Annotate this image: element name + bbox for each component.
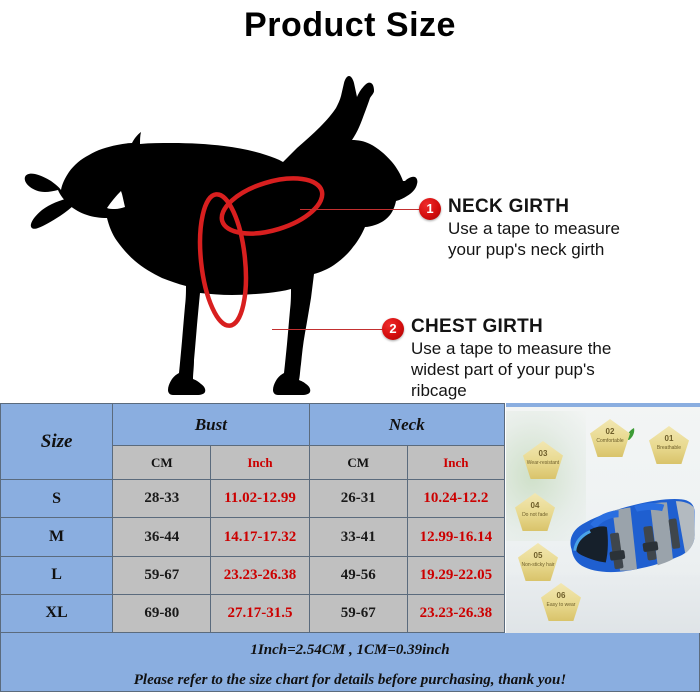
row-l-neck-inch: 19.29-22.05: [407, 556, 504, 594]
size-table: Size Bust Neck CM Inch CM Inch S 28-33 1…: [0, 403, 505, 633]
table-row: L 59-67 23.23-26.38 49-56 19.29-22.05: [1, 556, 505, 594]
header-group-neck: Neck: [309, 404, 504, 446]
table-row: S 28-33 11.02-12.99 26-31 10.24-12.2: [1, 480, 505, 518]
photo-top-band: [506, 403, 700, 407]
feature-badge-5-number: 05: [518, 551, 558, 560]
measurement-diagram: 1 2 NECK GIRTH Use a tape to measure you…: [0, 48, 700, 398]
product-photo: 01 Breathable 02 Comfortable 03 Wear-res…: [505, 403, 700, 633]
row-s-neck-inch: 10.24-12.2: [407, 480, 504, 518]
row-s-bust-cm: 28-33: [113, 480, 211, 518]
row-xl-bust-inch: 27.17-31.5: [211, 594, 309, 632]
feature-badge-breathable: 01 Breathable: [649, 426, 689, 464]
row-xl-neck-inch: 23.23-26.38: [407, 594, 504, 632]
feature-badge-comfortable: 02 Comfortable: [590, 419, 630, 457]
dog-silhouette-icon: [18, 48, 418, 398]
row-m-neck-cm: 33-41: [309, 518, 407, 556]
table-header-row-groups: Size Bust Neck: [1, 404, 505, 446]
table-row: XL 69-80 27.17-31.5 59-67 23.23-26.38: [1, 594, 505, 632]
footer-notes: 1Inch=2.54CM , 1CM=0.39inch Please refer…: [0, 633, 700, 692]
photo-surface: [506, 575, 700, 633]
row-size-l: L: [1, 556, 113, 594]
header-unit-neck-cm: CM: [309, 446, 407, 480]
row-size-s: S: [1, 480, 113, 518]
callout-chest-desc-line-1: Use a tape to measure the: [411, 338, 696, 359]
row-l-neck-cm: 49-56: [309, 556, 407, 594]
page-title: Product Size: [0, 6, 700, 45]
row-size-m: M: [1, 518, 113, 556]
row-m-bust-inch: 14.17-17.32: [211, 518, 309, 556]
feature-badge-1-label: Breathable: [649, 445, 689, 451]
header-unit-bust-cm: CM: [113, 446, 211, 480]
row-xl-bust-cm: 69-80: [113, 594, 211, 632]
row-s-bust-inch: 11.02-12.99: [211, 480, 309, 518]
feature-badge-1-number: 01: [649, 434, 689, 443]
callout-neck-desc-line-2: your pup's neck girth: [448, 239, 696, 260]
leader-line-chest: [272, 329, 385, 330]
row-xl-neck-cm: 59-67: [309, 594, 407, 632]
callout-chest-desc-line-3: ribcage: [411, 380, 696, 401]
feature-badge-4-label: Do not fade: [515, 512, 555, 518]
callout-neck-girth: NECK GIRTH Use a tape to measure your pu…: [448, 196, 696, 260]
callout-neck-desc-line-1: Use a tape to measure: [448, 218, 696, 239]
callout-neck-title: NECK GIRTH: [448, 196, 696, 218]
header-unit-neck-inch: Inch: [407, 446, 504, 480]
header-size: Size: [1, 404, 113, 480]
callout-chest-title: CHEST GIRTH: [411, 316, 696, 338]
row-l-bust-inch: 23.23-26.38: [211, 556, 309, 594]
row-size-xl: XL: [1, 594, 113, 632]
marker-badge-neck: 1: [419, 198, 441, 220]
callout-chest-desc-line-2: widest part of your pup's: [411, 359, 696, 380]
marker-badge-chest: 2: [382, 318, 404, 340]
row-m-bust-cm: 36-44: [113, 518, 211, 556]
row-l-bust-cm: 59-67: [113, 556, 211, 594]
table-row: M 36-44 14.17-17.32 33-41 12.99-16.14: [1, 518, 505, 556]
footer-purchase-note: Please refer to the size chart for detai…: [1, 672, 699, 689]
footer-conversion-note: 1Inch=2.54CM , 1CM=0.39inch: [1, 642, 699, 659]
feature-badge-2-label: Comfortable: [590, 438, 630, 444]
leader-line-neck: [300, 209, 422, 210]
row-s-neck-cm: 26-31: [309, 480, 407, 518]
feature-badge-3-label: Wear-resistant: [523, 460, 563, 466]
feature-badge-5-label: Non-sticky hair: [518, 562, 558, 568]
feature-badge-2-number: 02: [590, 427, 630, 436]
row-m-neck-inch: 12.99-16.14: [407, 518, 504, 556]
size-chart-panel: Size Bust Neck CM Inch CM Inch S 28-33 1…: [0, 403, 700, 692]
feature-badge-non-sticky-hair: 05 Non-sticky hair: [518, 543, 558, 581]
feature-badge-6-label: Easy to wear: [541, 602, 581, 608]
header-unit-bust-inch: Inch: [211, 446, 309, 480]
dog-life-vest-icon: [553, 482, 700, 587]
size-table-wrapper: Size Bust Neck CM Inch CM Inch S 28-33 1…: [0, 403, 505, 633]
callout-chest-girth: CHEST GIRTH Use a tape to measure the wi…: [411, 316, 696, 401]
header-group-bust: Bust: [113, 404, 309, 446]
